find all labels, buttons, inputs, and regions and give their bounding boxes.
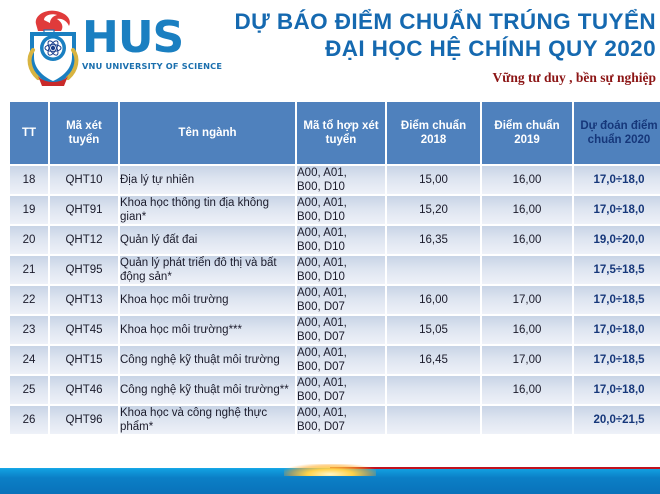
- column-header-code: Mã xét tuyển: [50, 102, 118, 164]
- cell-tt: 18: [10, 166, 48, 194]
- combination-line-1: A00, A01,: [297, 256, 385, 270]
- cell-score-2018: 15,05: [387, 316, 480, 344]
- page-title: DỰ BÁO ĐIỂM CHUẨN TRÚNG TUYỂN ĐẠI HỌC HỆ…: [232, 8, 656, 86]
- combination-line-1: A00, A01,: [297, 196, 385, 210]
- cell-predict-2020: 17,0÷18,0: [574, 376, 660, 404]
- column-header-name: Tên ngành: [120, 102, 295, 164]
- cell-program-name: Khoa học môi trường***: [120, 316, 295, 344]
- band-spark-accent-icon: [284, 464, 376, 476]
- cell-score-2019: [482, 256, 572, 284]
- cell-program-name: Địa lý tự nhiên: [120, 166, 295, 194]
- cell-predict-2020: 17,0÷18,5: [574, 286, 660, 314]
- cell-program-name: Khoa học và công nghệ thực phẩm*: [120, 406, 295, 434]
- cell-program-name: Khoa học môi trường: [120, 286, 295, 314]
- combination-line-1: A00, A01,: [297, 316, 385, 330]
- university-logo: HUS VNU UNIVERSITY OF SCIENCE: [8, 6, 228, 90]
- combination-line-2: B00, D07: [297, 420, 385, 434]
- table-row: 24QHT15Công nghệ kỹ thuật môi trườngA00,…: [10, 346, 660, 374]
- cell-score-2018: 16,00: [387, 286, 480, 314]
- combination-line-1: A00, A01,: [297, 286, 385, 300]
- cell-score-2019: [482, 406, 572, 434]
- cell-subject-combination: A00, A01,B00, D10: [297, 196, 385, 224]
- combination-line-2: B00, D10: [297, 240, 385, 254]
- cell-code: QHT45: [50, 316, 118, 344]
- column-header-combo: Mã tổ hợp xét tuyển: [297, 102, 385, 164]
- table-body: 18QHT10Địa lý tự nhiênA00, A01,B00, D101…: [10, 166, 660, 434]
- combination-line-2: B00, D07: [297, 390, 385, 404]
- cell-subject-combination: A00, A01,B00, D10: [297, 226, 385, 254]
- cell-tt: 26: [10, 406, 48, 434]
- table-row: 22QHT13Khoa học môi trườngA00, A01,B00, …: [10, 286, 660, 314]
- cell-predict-2020: 20,0÷21,5: [574, 406, 660, 434]
- cell-tt: 20: [10, 226, 48, 254]
- table-row: 20QHT12Quản lý đất đaiA00, A01,B00, D101…: [10, 226, 660, 254]
- combination-line-1: A00, A01,: [297, 226, 385, 240]
- table-header: TT Mã xét tuyển Tên ngành Mã tổ hợp xét …: [10, 102, 660, 164]
- hus-torch-shield-logo-icon: [20, 8, 86, 88]
- cell-tt: 24: [10, 346, 48, 374]
- cell-score-2019: 16,00: [482, 226, 572, 254]
- cell-subject-combination: A00, A01,B00, D07: [297, 286, 385, 314]
- column-header-tt: TT: [10, 102, 48, 164]
- cell-code: QHT91: [50, 196, 118, 224]
- cell-score-2018: 15,00: [387, 166, 480, 194]
- cell-code: QHT10: [50, 166, 118, 194]
- cell-score-2018: [387, 406, 480, 434]
- admission-scores-table: TT Mã xét tuyển Tên ngành Mã tổ hợp xét …: [8, 100, 660, 436]
- page-title-line-2: ĐẠI HỌC HỆ CHÍNH QUY 2020: [232, 35, 656, 62]
- cell-predict-2020: 17,5÷18,5: [574, 256, 660, 284]
- cell-subject-combination: A00, A01,B00, D10: [297, 166, 385, 194]
- cell-score-2019: 16,00: [482, 166, 572, 194]
- column-header-score-2018: Điểm chuẩn 2018: [387, 102, 480, 164]
- combination-line-2: B00, D07: [297, 360, 385, 374]
- cell-code: QHT15: [50, 346, 118, 374]
- cell-score-2018: 15,20: [387, 196, 480, 224]
- table-row: 25QHT46Công nghệ kỹ thuật môi trường**A0…: [10, 376, 660, 404]
- page-title-line-1: DỰ BÁO ĐIỂM CHUẨN TRÚNG TUYỂN: [232, 8, 656, 35]
- admission-scores-table-container: TT Mã xét tuyển Tên ngành Mã tổ hợp xét …: [8, 100, 654, 436]
- cell-predict-2020: 19,0÷20,0: [574, 226, 660, 254]
- cell-score-2019: 16,00: [482, 376, 572, 404]
- cell-predict-2020: 17,0÷18,5: [574, 346, 660, 374]
- logo-subtitle: VNU UNIVERSITY OF SCIENCE: [82, 61, 230, 72]
- cell-subject-combination: A00, A01,B00, D07: [297, 406, 385, 434]
- cell-score-2019: 17,00: [482, 286, 572, 314]
- cell-score-2019: 16,00: [482, 316, 572, 344]
- combination-line-2: B00, D10: [297, 270, 385, 284]
- tagline: Vững tư duy , bền sự nghiệp: [232, 69, 656, 86]
- combination-line-1: A00, A01,: [297, 376, 385, 390]
- cell-tt: 22: [10, 286, 48, 314]
- cell-subject-combination: A00, A01,B00, D10: [297, 256, 385, 284]
- cell-program-name: Công nghệ kỹ thuật môi trường: [120, 346, 295, 374]
- cell-tt: 21: [10, 256, 48, 284]
- table-row: 21QHT95Quản lý phát triển đô thị và bất …: [10, 256, 660, 284]
- combination-line-1: A00, A01,: [297, 166, 385, 180]
- logo-wordmark: HUS: [82, 16, 230, 60]
- combination-line-2: B00, D07: [297, 330, 385, 344]
- combination-line-1: A00, A01,: [297, 346, 385, 360]
- cell-predict-2020: 17,0÷18,0: [574, 196, 660, 224]
- column-header-predict-2020: Dự đoán điểm chuẩn 2020: [574, 102, 660, 164]
- table-row: 23QHT45Khoa học môi trường***A00, A01,B0…: [10, 316, 660, 344]
- table-row: 26QHT96Khoa học và công nghệ thực phẩm*A…: [10, 406, 660, 434]
- table-row: 19QHT91Khoa học thông tin địa không gian…: [10, 196, 660, 224]
- cell-code: QHT96: [50, 406, 118, 434]
- cell-score-2018: 16,45: [387, 346, 480, 374]
- cell-score-2018: [387, 376, 480, 404]
- cell-predict-2020: 17,0÷18,0: [574, 316, 660, 344]
- cell-tt: 19: [10, 196, 48, 224]
- cell-program-name: Khoa học thông tin địa không gian*: [120, 196, 295, 224]
- cell-subject-combination: A00, A01,B00, D07: [297, 316, 385, 344]
- logo-text: HUS VNU UNIVERSITY OF SCIENCE: [82, 16, 230, 72]
- cell-score-2019: 16,00: [482, 196, 572, 224]
- cell-code: QHT46: [50, 376, 118, 404]
- page-header: HUS VNU UNIVERSITY OF SCIENCE DỰ BÁO ĐIỂ…: [0, 0, 660, 96]
- combination-line-1: A00, A01,: [297, 406, 385, 420]
- cell-code: QHT95: [50, 256, 118, 284]
- cell-score-2018: 16,35: [387, 226, 480, 254]
- table-header-row: TT Mã xét tuyển Tên ngành Mã tổ hợp xét …: [10, 102, 660, 164]
- cell-program-name: Quản lý đất đai: [120, 226, 295, 254]
- cell-program-name: Quản lý phát triển đô thị và bất động sả…: [120, 256, 295, 284]
- cell-score-2019: 17,00: [482, 346, 572, 374]
- combination-line-2: B00, D10: [297, 180, 385, 194]
- combination-line-2: B00, D10: [297, 210, 385, 224]
- cell-subject-combination: A00, A01,B00, D07: [297, 346, 385, 374]
- footer-decorative-band: [0, 464, 660, 494]
- table-row: 18QHT10Địa lý tự nhiênA00, A01,B00, D101…: [10, 166, 660, 194]
- cell-program-name: Công nghệ kỹ thuật môi trường**: [120, 376, 295, 404]
- cell-subject-combination: A00, A01,B00, D07: [297, 376, 385, 404]
- combination-line-2: B00, D07: [297, 300, 385, 314]
- column-header-score-2019: Điểm chuẩn 2019: [482, 102, 572, 164]
- cell-code: QHT13: [50, 286, 118, 314]
- cell-score-2018: [387, 256, 480, 284]
- cell-tt: 23: [10, 316, 48, 344]
- cell-predict-2020: 17,0÷18,0: [574, 166, 660, 194]
- cell-tt: 25: [10, 376, 48, 404]
- cell-code: QHT12: [50, 226, 118, 254]
